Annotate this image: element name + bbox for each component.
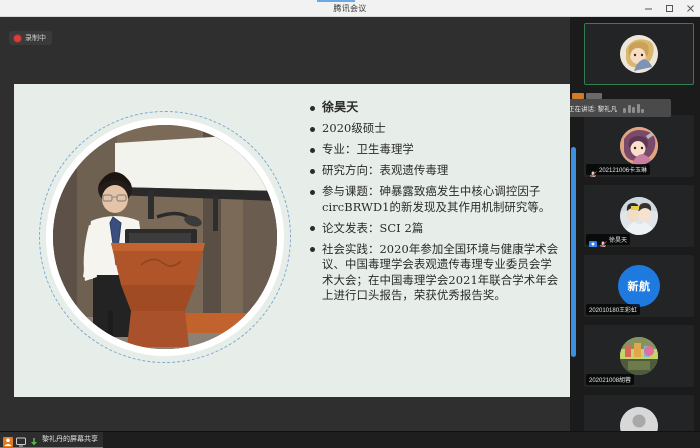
recording-dot-icon [14, 35, 21, 42]
meeting-body: 录制中 [0, 17, 700, 448]
title-bar: 腾讯会议 [0, 0, 700, 17]
bullet-dot-icon [310, 190, 315, 195]
participant-name-badge: 202010180王彩虹 [586, 304, 640, 315]
participant-name: 202010180王彩虹 [589, 305, 637, 314]
recording-label: 录制中 [25, 33, 46, 43]
shared-screen-stage: 录制中 [0, 17, 570, 431]
participant-tile[interactable]: 202121006卡玉琳 [584, 115, 694, 177]
taskbar-item[interactable]: 黎礼丹的屏幕共享 [0, 432, 103, 448]
screen-share-icon [16, 434, 26, 444]
avatar [620, 35, 658, 73]
bullet-item: 2020级硕士 [310, 121, 560, 137]
slide-bullet-list: 徐昊天 2020级硕士 专业：卫生毒理学 研究方向：表观遗传毒理 [310, 100, 560, 309]
bullet-label: 社会实践：2020年参加全国环境与健康学术会议、中国毒理学会表观遗传毒理专业委员… [322, 242, 560, 304]
photo-image [53, 125, 277, 349]
host-icon [589, 236, 597, 244]
rail-scrollbar-track[interactable] [570, 17, 578, 448]
close-icon[interactable] [685, 3, 696, 14]
avatar [620, 337, 658, 375]
bullet-label: 参与课题：砷暴露致癌发生中核心调控因子circBRWD1的新发现及其作用机制研究… [322, 184, 560, 215]
bullet-item: 论文发表：SCI 2篇 [310, 221, 560, 237]
bullet-dot-icon [310, 169, 315, 174]
bullet-item: 徐昊天 [310, 100, 560, 116]
speaker-photo [37, 97, 293, 377]
recording-badge: 录制中 [9, 31, 52, 45]
participant-name-badge: 202021008胡蓉 [586, 374, 634, 385]
participant-name: 202021008胡蓉 [589, 375, 631, 384]
taskbar-item-label: 黎礼丹的屏幕共享 [42, 434, 98, 444]
audio-wave-icon [623, 104, 644, 113]
taskbar: 黎礼丹的屏幕共享 [0, 431, 700, 448]
window-title: 腾讯会议 [333, 3, 366, 14]
avatar [620, 127, 658, 165]
mic-muted-icon [589, 166, 597, 174]
maximize-icon[interactable] [664, 3, 675, 14]
mic-muted-icon [599, 236, 607, 244]
bullet-dot-icon [310, 247, 315, 252]
bullet-dot-icon [310, 226, 315, 231]
participant-name-badge: 202121006卡玉琳 [586, 164, 650, 175]
avatar-initial: 新航 [618, 265, 660, 307]
download-arrow-icon [29, 434, 39, 444]
participant-tile[interactable]: 202021008胡蓉 [584, 325, 694, 387]
participant-name: 202121006卡玉琳 [599, 165, 647, 174]
bullet-item: 社会实践：2020年参加全国环境与健康学术会议、中国毒理学会表观遗传毒理专业委员… [310, 242, 560, 304]
bullet-label: 论文发表：SCI 2篇 [322, 221, 423, 237]
title-bar-accent [317, 0, 355, 2]
participant-tile[interactable]: 新航 202010180王彩虹 [584, 255, 694, 317]
bullet-dot-icon [310, 148, 315, 153]
app-launcher-icon [3, 434, 13, 444]
window-controls [643, 0, 696, 17]
speaking-toast: 正在讲话: 黎礼凡 [570, 99, 671, 117]
bullet-dot-icon [310, 106, 315, 111]
bullet-label: 专业：卫生毒理学 [322, 142, 414, 158]
bullet-label: 徐昊天 [322, 100, 358, 116]
bullet-item: 参与课题：砷暴露致癌发生中核心调控因子circBRWD1的新发现及其作用机制研究… [310, 184, 560, 215]
bullet-item: 研究方向：表观遗传毒理 [310, 163, 560, 179]
presentation-slide: 徐昊天 2020级硕士 专业：卫生毒理学 研究方向：表观遗传毒理 [14, 84, 570, 397]
minimize-icon[interactable] [643, 3, 654, 14]
participant-tile[interactable]: 徐昊天 [584, 185, 694, 247]
bullet-label: 研究方向：表观遗传毒理 [322, 163, 448, 179]
tencent-meeting-window: 腾讯会议 录制中 [0, 0, 700, 448]
participant-name: 徐昊天 [609, 235, 627, 244]
speaking-toast-label: 正在讲话: 黎礼凡 [570, 103, 617, 113]
avatar [620, 197, 658, 235]
participant-tile[interactable] [584, 23, 694, 85]
bullet-dot-icon [310, 127, 315, 132]
bullet-label: 2020级硕士 [322, 121, 386, 137]
bullet-item: 专业：卫生毒理学 [310, 142, 560, 158]
participant-name-badge: 徐昊天 [586, 234, 630, 245]
rail-scrollbar-thumb[interactable] [571, 147, 576, 357]
participant-rail: 正在讲话: 黎礼凡 [570, 17, 700, 448]
